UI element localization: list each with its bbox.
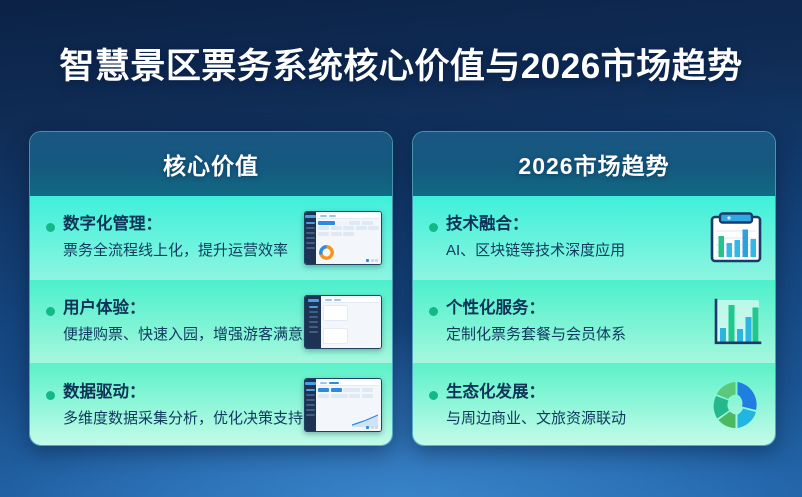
- thumbnail-nav-item: [306, 394, 315, 396]
- pagination-dot: [366, 259, 369, 262]
- list-item-desc: 票务全流程线上化，提升运营效率: [63, 239, 298, 263]
- list-item-desc: 多维度数据采集分析，优化决策支持: [63, 407, 298, 431]
- list-item-visual: [707, 209, 765, 267]
- thumbnail-nav-item: [309, 331, 318, 333]
- thumbnail-nav-item: [309, 311, 318, 313]
- bullet-dot-icon: [46, 223, 55, 232]
- thumbnail-logo: [308, 299, 319, 302]
- thumbnail-card-row: [323, 303, 379, 349]
- bullet-dot-icon: [429, 223, 438, 232]
- panel-core-value-body: 数字化管理： 票务全流程线上化，提升运营效率: [30, 196, 392, 446]
- pagination-dot: [366, 426, 369, 429]
- thumbnail-cell: [318, 226, 329, 230]
- pagination-dot: [371, 426, 374, 429]
- thumbnail-cell: [343, 226, 354, 230]
- thumbnail-sidebar: [305, 296, 321, 348]
- panel-market-trend-header: 2026市场趋势: [413, 132, 775, 196]
- thumbnail-pagination: [366, 426, 378, 429]
- thumbnail-cell: [343, 232, 354, 236]
- thumbnail-chip: [320, 215, 327, 217]
- list-item-title: 数字化管理：: [63, 212, 298, 236]
- thumbnail-grid: [318, 386, 379, 398]
- thumbnail-cell: [349, 394, 360, 398]
- thumbnail-cell: [368, 226, 379, 230]
- list-item-text: 用户体验： 便捷购票、快速入园，增强游客满意度: [63, 296, 298, 347]
- list-item[interactable]: 生态化发展： 与周边商业、文旅资源联动: [413, 363, 775, 446]
- thumbnail-card: [323, 305, 348, 321]
- thumbnail-grid: [318, 219, 379, 236]
- thumbnail-nav-item: [309, 306, 318, 308]
- thumbnail-cell: [318, 221, 335, 225]
- donut-chart-icon: [707, 376, 765, 434]
- thumbnail-cell: [356, 226, 367, 230]
- panel-market-trend-header-label: 2026市场趋势: [518, 147, 669, 181]
- thumbnail-content: [321, 296, 381, 348]
- thumbnail-cell: [349, 221, 360, 225]
- bullet-dot-icon: [429, 307, 438, 316]
- thumbnail-cell: [331, 226, 342, 230]
- pagination-dot: [375, 259, 378, 262]
- list-item-text: 数据驱动： 多维度数据采集分析，优化决策支持: [63, 380, 298, 431]
- panel-core-value-header-label: 核心价值: [163, 147, 259, 181]
- thumbnail-cell: [331, 394, 348, 398]
- thumbnail-nav-item: [306, 414, 315, 416]
- list-item-title: 个性化服务：: [446, 296, 701, 320]
- list-item-title: 生态化发展：: [446, 380, 701, 404]
- list-item-text: 数字化管理： 票务全流程线上化，提升运营效率: [63, 212, 298, 263]
- thumbnail-logo: [305, 382, 316, 385]
- panels-container: 核心价值 数字化管理： 票务全流程线上化，提升运营效率: [0, 131, 802, 446]
- list-item-desc: 便捷购票、快速入园，增强游客满意度: [63, 323, 298, 347]
- bullet-dot-icon: [429, 391, 438, 400]
- panel-core-value: 核心价值 数字化管理： 票务全流程线上化，提升运营效率: [29, 131, 393, 446]
- thumbnail-pagination: [366, 259, 378, 262]
- thumbnail-nav-item: [306, 389, 315, 391]
- thumbnail-card: [323, 328, 348, 344]
- list-item-desc: AI、区块链等技术深度应用: [446, 239, 701, 263]
- thumbnail-nav-item: [309, 321, 318, 323]
- list-item-visual: [304, 211, 382, 265]
- list-item-desc: 定制化票务套餐与会员体系: [446, 323, 701, 347]
- thumbnail-nav-item: [306, 227, 315, 229]
- thumbnail-logo: [305, 215, 316, 218]
- list-item-text: 个性化服务： 定制化票务套餐与会员体系: [446, 296, 701, 347]
- thumbnail-content: [316, 379, 381, 431]
- thumbnail-chip: [329, 215, 336, 217]
- clipboard-bar-chart-icon: [707, 209, 765, 267]
- thumbnail-nav-item: [309, 316, 318, 318]
- list-item[interactable]: 数据驱动： 多维度数据采集分析，优化决策支持: [30, 363, 392, 446]
- list-item[interactable]: 数字化管理： 票务全流程线上化，提升运营效率: [30, 196, 392, 280]
- pagination-dot: [375, 426, 378, 429]
- list-item-visual: [304, 295, 382, 349]
- list-item-title: 数据驱动：: [63, 380, 298, 404]
- thumbnail-nav-item: [306, 399, 315, 401]
- panel-core-value-header: 核心价值: [30, 132, 392, 196]
- thumbnail-cell: [318, 394, 329, 398]
- thumbnail-chip: [325, 299, 332, 301]
- thumbnail-cell: [362, 388, 373, 392]
- bullet-dot-icon: [46, 391, 55, 400]
- page-title: 智慧景区票务系统核心价值与2026市场趋势: [0, 44, 802, 90]
- thumbnail-cell: [343, 388, 360, 392]
- thumbnail-nav-item: [309, 326, 318, 328]
- list-item-text: 生态化发展： 与周边商业、文旅资源联动: [446, 380, 701, 431]
- thumbnail-primary-button: [329, 382, 339, 384]
- dashboard-donut-thumbnail: [304, 211, 382, 265]
- thumbnail-nav-item: [306, 247, 315, 249]
- panel-market-trend-body: 技术融合： AI、区块链等技术深度应用: [413, 196, 775, 446]
- thumbnail-cell: [331, 388, 342, 392]
- bar-chart-icon: [707, 293, 765, 351]
- pagination-dot: [371, 259, 374, 262]
- thumbnail-nav-item: [306, 237, 315, 239]
- list-item-visual: [304, 378, 382, 432]
- list-item-desc: 与周边商业、文旅资源联动: [446, 407, 701, 431]
- thumbnail-nav-item: [306, 409, 315, 411]
- thumbnail-cell: [362, 394, 373, 398]
- thumbnail-sidebar: [305, 212, 316, 264]
- list-item-visual: [707, 376, 765, 434]
- thumbnail-sidebar: [305, 379, 316, 431]
- thumbnail-cell: [318, 388, 329, 392]
- bullet-dot-icon: [46, 307, 55, 316]
- list-item[interactable]: 个性化服务： 定制化票务套餐与会员体系: [413, 280, 775, 364]
- list-item-text: 技术融合： AI、区块链等技术深度应用: [446, 212, 701, 263]
- thumbnail-cell: [337, 221, 348, 225]
- panel-market-trend: 2026市场趋势 技术融合： AI、区块链等技术深度应用: [412, 131, 776, 446]
- thumbnail-cell: [331, 232, 342, 236]
- slide-canvas: 智慧景区票务系统核心价值与2026市场趋势 核心价值 数字化管理： 票务全流程线…: [0, 0, 802, 497]
- thumbnail-chip: [320, 382, 327, 384]
- list-item-visual: [707, 293, 765, 351]
- thumbnail-cell: [362, 221, 373, 225]
- thumbnail-nav-item: [306, 232, 315, 234]
- list-item-title: 用户体验：: [63, 296, 298, 320]
- thumbnail-content: [316, 212, 381, 264]
- list-item-title: 技术融合：: [446, 212, 701, 236]
- dashboard-cards-thumbnail: [304, 295, 382, 349]
- thumbnail-nav-item: [306, 404, 315, 406]
- dashboard-line-thumbnail: [304, 378, 382, 432]
- donut-chart-icon: [319, 245, 334, 260]
- thumbnail-nav-item: [306, 242, 315, 244]
- thumbnail-cell: [318, 232, 329, 236]
- list-item[interactable]: 用户体验： 便捷购票、快速入园，增强游客满意度: [30, 280, 392, 364]
- thumbnail-chip: [334, 299, 341, 301]
- thumbnail-nav-item: [306, 222, 315, 224]
- list-item[interactable]: 技术融合： AI、区块链等技术深度应用: [413, 196, 775, 280]
